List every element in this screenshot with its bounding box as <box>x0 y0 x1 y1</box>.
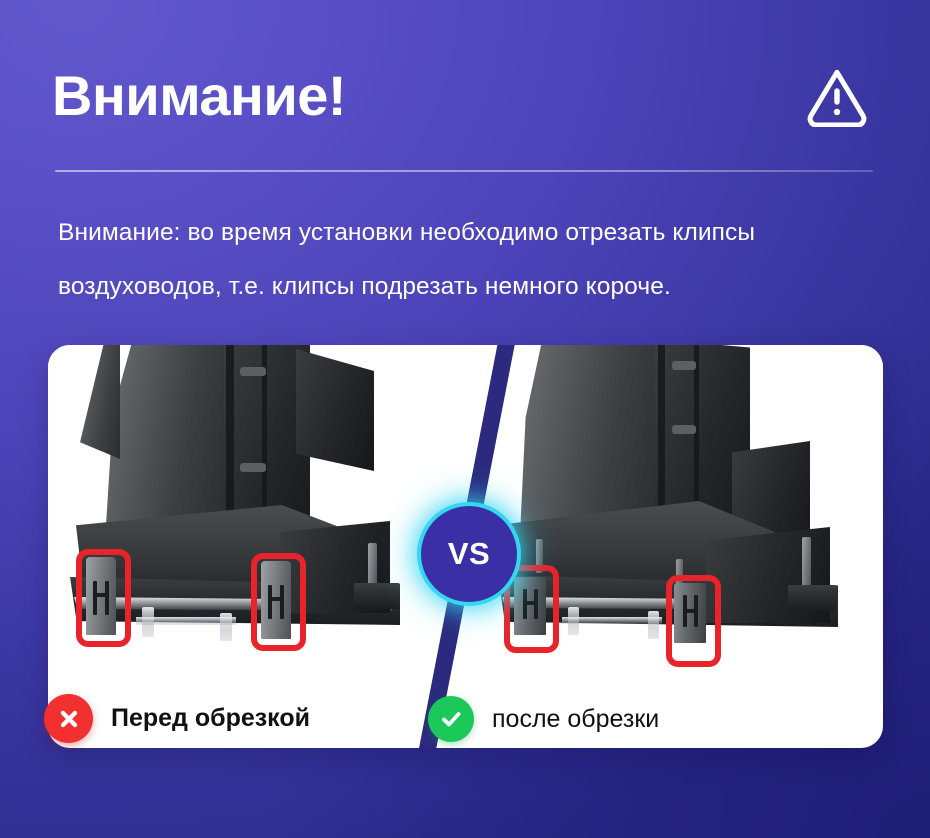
warning-infographic-page: Внимание! Внимание: во время установки н… <box>0 0 930 838</box>
photo-after <box>468 345 883 685</box>
check-circle-icon <box>428 696 474 742</box>
highlight-box-clip-right <box>666 575 721 667</box>
pane-after <box>468 345 883 685</box>
intro-paragraph: Внимание: во время установки необходимо … <box>58 206 888 314</box>
highlight-box-clip-left <box>76 549 131 647</box>
header-divider <box>55 170 873 172</box>
label-row-before: Перед обрезкой <box>44 694 310 743</box>
header: Внимание! <box>52 54 878 138</box>
label-after: после обрезки <box>492 705 659 734</box>
label-row-after: после обрезки <box>428 696 659 742</box>
cross-circle-icon <box>44 694 93 743</box>
pane-before <box>48 345 463 685</box>
vs-badge: VS <box>417 502 521 606</box>
page-title: Внимание! <box>52 68 346 124</box>
label-before: Перед обрезкой <box>111 704 310 733</box>
highlight-box-clip-right <box>251 553 306 651</box>
warning-triangle-icon <box>806 65 868 127</box>
vs-label: VS <box>448 536 490 572</box>
photo-before <box>48 345 463 685</box>
